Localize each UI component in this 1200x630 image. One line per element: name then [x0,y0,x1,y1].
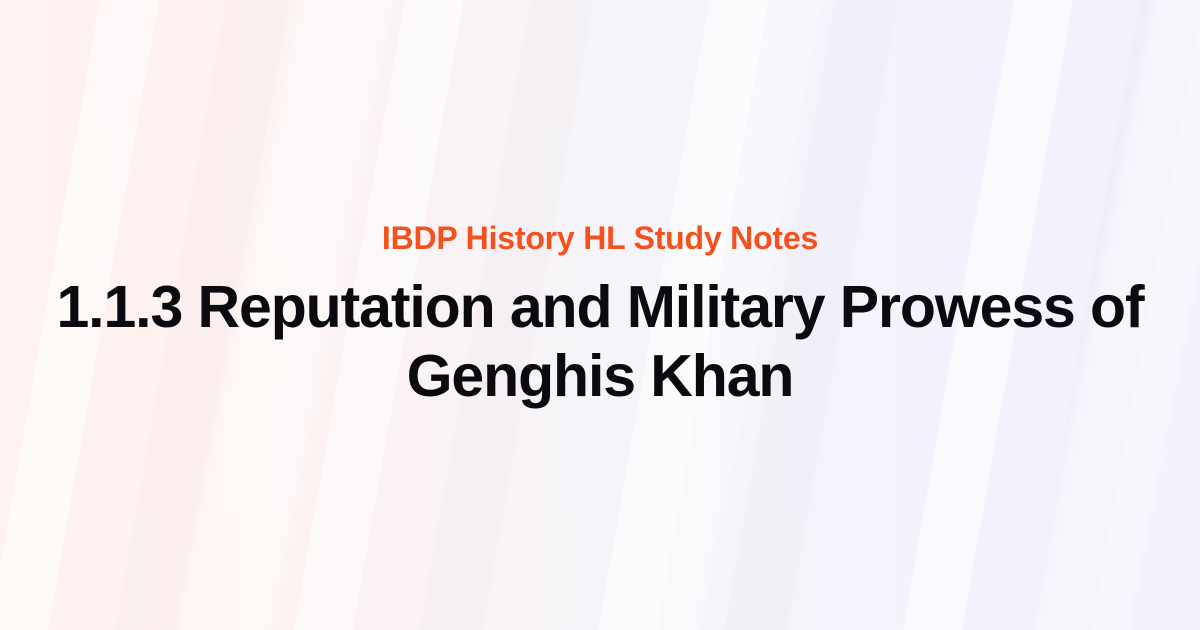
page-title-line-1: 1.1.3 Reputation and Military Prowess of [56,273,1143,342]
banner-content: IBDP History HL Study Notes 1.1.3 Reputa… [0,0,1200,630]
page-title: 1.1.3 Reputation and Military Prowess of… [56,273,1143,411]
page-title-line-2: Genghis Khan [56,342,1143,411]
course-eyebrow-label: IBDP History HL Study Notes [382,219,818,257]
og-banner-card: IBDP History HL Study Notes 1.1.3 Reputa… [0,0,1200,630]
